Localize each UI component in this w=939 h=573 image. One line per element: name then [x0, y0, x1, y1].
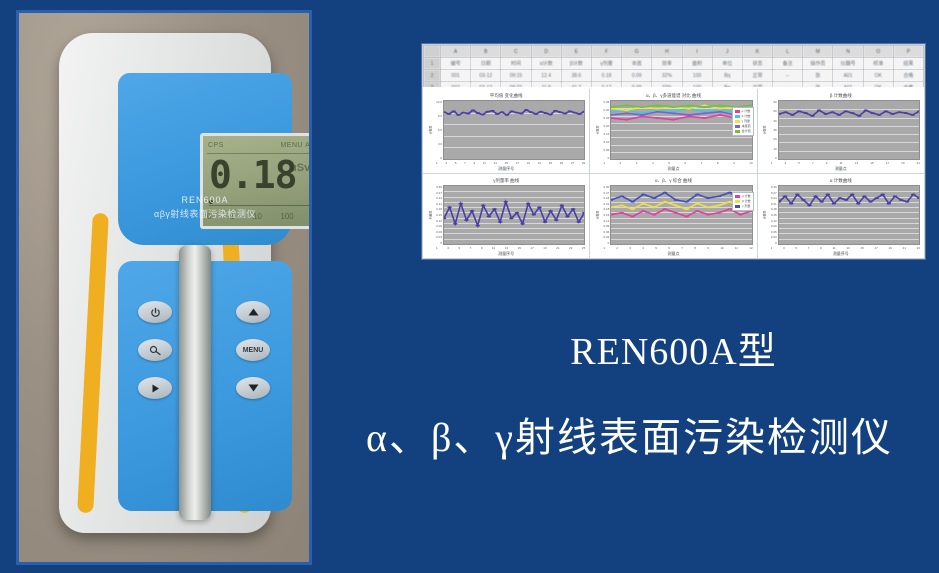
table-cell[interactable]: -- [773, 70, 803, 82]
table-cell[interactable]: 09:22 [501, 82, 531, 88]
table-header-cell[interactable]: G [622, 46, 652, 58]
chart-y-tick: 0 [440, 241, 442, 245]
table-cell[interactable]: 日期 [471, 58, 501, 70]
chart-plot-area: 计数率0.350.300.250.200.150.100.050 [594, 100, 752, 160]
chart-y-tick: 0.18 [436, 207, 442, 211]
chart-legend-swatch [735, 120, 740, 123]
chart-y-tick: 0.18 [771, 207, 777, 211]
chart-y-tick: 0.30 [771, 185, 777, 189]
chart-plot-area: 计数率12.09.06.03.00 [427, 100, 585, 160]
chart-y-tick: 0 [608, 156, 610, 160]
chart-legend: α 计数β 计数γ 剂量本底值合计值 [732, 107, 754, 136]
table-row: 300203-1209:2211.841.20.170.0932%100Bq正常… [424, 82, 924, 88]
chart-title: γ剂量率 曲线 [427, 177, 585, 185]
table-header-cell[interactable]: J [712, 46, 742, 58]
chart-y-tick: 0.24 [603, 196, 609, 200]
chart-x-axis-label: 测量序号 [758, 251, 924, 258]
search-icon [149, 345, 162, 356]
table-cell[interactable]: 0.17 [591, 82, 621, 88]
table-header-cell[interactable]: C [501, 46, 531, 58]
spreadsheet-area: ABCDEFGHIJKLMNOP1编号日期时间α计数β计数γ剂量本底效率面积单位… [423, 45, 924, 87]
chart-cell[interactable]: α、β、γ 综合 曲线计数率0.300.270.240.210.180.150.… [590, 174, 756, 258]
chart-y-ticks: 0.300.270.240.210.180.150.120.090.060.03… [600, 185, 610, 245]
chart-cell[interactable]: α、β、γ多道能谱 对比 曲线计数率0.350.300.250.200.150.… [590, 89, 756, 173]
table-cell[interactable]: 002 [441, 82, 471, 88]
power-button[interactable] [138, 301, 172, 323]
chart-legend-swatch [735, 125, 740, 128]
table-cell[interactable]: 001 [441, 70, 471, 82]
table-cell[interactable]: 0.09 [622, 70, 652, 82]
chart-y-tick: 30 [773, 128, 776, 132]
chart-y-tick: 0.03 [603, 235, 609, 239]
table-cell[interactable]: 12.4 [531, 70, 561, 82]
table-header-cell[interactable]: N [833, 46, 863, 58]
chart-y-tick: 0.35 [603, 100, 609, 104]
table-cell[interactable]: 备注 [773, 58, 803, 70]
device-subtitle-label: αβγ射线表面污染检测仪 [118, 207, 292, 220]
chart-y-tick: 0.03 [436, 235, 442, 239]
chart-y-ticks: 0.300.270.240.210.180.150.120.090.060.03… [768, 185, 778, 245]
chart-y-ticks: 6050403020100 [768, 100, 778, 160]
chart-y-tick: 0.30 [436, 185, 442, 189]
chart-y-tick: 0.21 [771, 202, 777, 206]
chart-legend-swatch [735, 205, 740, 208]
table-cell[interactable]: 合格 [893, 70, 923, 82]
chart-title: α、β、γ多道能谱 对比 曲线 [594, 92, 752, 100]
table-header-cell[interactable]: A [441, 46, 471, 58]
table-header-cell[interactable]: E [561, 46, 591, 58]
chart-y-ticks: 12.09.06.03.00 [433, 100, 443, 160]
chart-y-tick: 0.15 [436, 213, 442, 217]
chart-grid: 平均值 变化曲线计数率12.09.06.03.00135791113151719… [423, 89, 924, 258]
chart-y-tick: 0.21 [603, 202, 609, 206]
chart-legend: α 计数β 计数γ 剂量 [732, 192, 754, 211]
table-cell[interactable]: 校准 [863, 58, 893, 70]
table-cell[interactable]: -- [773, 82, 803, 88]
chart-y-tick: 0.06 [603, 230, 609, 234]
chart-y-tick: 0.09 [436, 224, 442, 228]
menu-button-label: MENU [243, 347, 264, 354]
table-cell[interactable]: 03-12 [471, 70, 501, 82]
chart-y-tick: 0.24 [771, 196, 777, 200]
chart-y-tick: 0 [775, 241, 777, 245]
chart-y-tick: 0.05 [603, 148, 609, 152]
chart-y-tick: 0 [440, 156, 442, 160]
chart-plot-area: 计数率0.300.270.240.210.180.150.120.090.060… [762, 185, 920, 245]
table-cell[interactable]: α计数 [531, 58, 561, 70]
chart-y-tick: 0.10 [603, 140, 609, 144]
arrow-up-icon [247, 307, 260, 317]
table-cell[interactable]: 0.18 [591, 70, 621, 82]
chart-y-tick: 40 [773, 119, 776, 123]
table-cell[interactable]: 11.8 [531, 82, 561, 88]
chart-cell[interactable]: 平均值 变化曲线计数率12.09.06.03.00135791113151719… [423, 89, 589, 173]
table-cell[interactable]: 正常 [742, 82, 772, 88]
table-header-cell[interactable]: M [803, 46, 833, 58]
chart-y-tick: 0.12 [436, 219, 442, 223]
chart-legend-item: 合计值 [735, 129, 751, 134]
chart-y-tick: 10 [773, 147, 776, 151]
table-cell[interactable]: β计数 [561, 58, 591, 70]
table-cell[interactable]: 本底 [622, 58, 652, 70]
chart-y-tick: 0.12 [603, 219, 609, 223]
chart-y-tick: 50 [773, 109, 776, 113]
chart-legend-item: γ 剂量 [735, 204, 751, 209]
chart-y-tick: 9.0 [438, 114, 442, 118]
table-header-cell[interactable]: O [863, 46, 893, 58]
table-cell[interactable]: 38.6 [561, 70, 591, 82]
table-cell[interactable]: Bq [712, 82, 742, 88]
device-upper-face: CPS MENU ALM 0.18 uSv/h 01101001K REN600… [118, 73, 292, 245]
chart-legend-swatch [735, 110, 740, 113]
chart-plot [443, 185, 585, 245]
table-row: 200103-1209:1512.438.60.180.0932%100Bq正常… [424, 70, 924, 82]
table-cell[interactable]: 合格 [893, 82, 923, 88]
table-header-cell[interactable]: B [471, 46, 501, 58]
chart-y-tick: 0.06 [436, 230, 442, 234]
table-cell[interactable]: 结果 [893, 58, 923, 70]
table-cell[interactable]: 41.2 [561, 82, 591, 88]
table-cell[interactable]: 0.09 [622, 82, 652, 88]
chart-x-axis-label: 测量序号 [423, 166, 589, 173]
table-cell[interactable]: 100 [682, 70, 712, 82]
chart-plot [778, 185, 920, 245]
table-row: 1编号日期时间α计数β计数γ剂量本底效率面积单位状态备注操作员仪器号校准结果 [424, 58, 924, 70]
chart-x-axis-label: 测量点 [758, 166, 924, 173]
chart-y-tick: 3.0 [438, 142, 442, 146]
chart-y-tick: 0.03 [771, 235, 777, 239]
chart-y-tick: 0.09 [771, 224, 777, 228]
lcd-unit: uSv/h [290, 162, 312, 174]
table-cell[interactable]: 状态 [742, 58, 772, 70]
table-header-cell[interactable]: F [591, 46, 621, 58]
chart-plot-area: 计数率0.300.270.240.210.180.150.120.090.060… [594, 185, 752, 245]
chart-y-tick: 6.0 [438, 128, 442, 132]
table-header-cell[interactable]: K [742, 46, 772, 58]
chart-title: α、β、γ 综合 曲线 [594, 177, 752, 185]
up-button[interactable] [236, 301, 270, 323]
chart-plot-area: 计数率6050403020100 [762, 100, 920, 160]
table-cell[interactable]: A01 [833, 70, 863, 82]
chart-title: β 计数曲线 [762, 92, 920, 100]
table-cell[interactable]: 09:15 [501, 70, 531, 82]
chart-y-tick: 0.06 [771, 230, 777, 234]
product-photo: CPS MENU ALM 0.18 uSv/h 01101001K REN600… [16, 10, 312, 565]
device-body: CPS MENU ALM 0.18 uSv/h 01101001K REN600… [59, 33, 271, 533]
chart-y-tick: 20 [773, 137, 776, 141]
table-cell[interactable]: 正常 [742, 70, 772, 82]
spreadsheet-table: ABCDEFGHIJKLMNOP1编号日期时间α计数β计数γ剂量本底效率面积单位… [423, 45, 924, 87]
product-title-line2: α、β、γ射线表面污染检测仪 [320, 412, 939, 464]
device-handle [179, 245, 211, 520]
chart-legend-swatch [735, 130, 740, 133]
table-header-cell[interactable]: P [893, 46, 923, 58]
table-cell [424, 46, 441, 58]
chart-y-tick: 0 [775, 156, 777, 160]
chart-y-tick: 0.25 [603, 116, 609, 120]
chart-y-tick: 0.15 [771, 213, 777, 217]
chart-legend-swatch [735, 195, 740, 198]
chart-cell[interactable]: α 计数曲线计数率0.300.270.240.210.180.150.120.0… [758, 174, 924, 258]
software-screenshot-panel: ABCDEFGHIJKLMNOP1编号日期时间α计数β计数γ剂量本底效率面积单位… [422, 44, 925, 259]
table-cell[interactable]: 操作员 [803, 58, 833, 70]
table-cell[interactable]: 时间 [501, 58, 531, 70]
chart-plot [778, 100, 920, 160]
chart-y-tick: 0.30 [603, 108, 609, 112]
lcd-value: 0.18 [209, 156, 297, 194]
play-button[interactable] [138, 377, 172, 399]
table-header-cell[interactable]: I [682, 46, 712, 58]
table-header-cell[interactable]: D [531, 46, 561, 58]
chart-x-axis-label: 测量点 [590, 166, 756, 173]
menu-button[interactable]: MENU [236, 339, 270, 361]
chart-y-tick: 0.30 [603, 185, 609, 189]
table-cell[interactable]: 3 [424, 82, 441, 88]
chart-plot-area: 剂量率0.300.270.240.210.180.150.120.090.060… [427, 185, 585, 245]
table-cell[interactable]: 1 [424, 58, 441, 70]
table-cell[interactable]: 面积 [682, 58, 712, 70]
chart-y-ticks: 0.350.300.250.200.150.100.050 [600, 100, 610, 160]
chart-cell[interactable]: γ剂量率 曲线剂量率0.300.270.240.210.180.150.120.… [423, 174, 589, 258]
chart-title: α 计数曲线 [762, 177, 920, 185]
chart-y-tick: 0.15 [603, 132, 609, 136]
chart-legend-swatch [735, 115, 740, 118]
lcd-status-right: MENU ALM [280, 142, 312, 149]
chart-y-tick: 0.27 [603, 191, 609, 195]
chart-y-tick: 0.20 [603, 124, 609, 128]
device-model-label: REN600A [118, 195, 292, 205]
search-button[interactable] [138, 339, 172, 361]
chart-y-tick: 0 [608, 241, 610, 245]
chart-cell[interactable]: β 计数曲线计数率605040302010013579111315171921测… [758, 89, 924, 173]
table-cell[interactable]: 03-12 [471, 82, 501, 88]
chart-plot [443, 100, 585, 160]
chart-legend-swatch [735, 200, 740, 203]
chart-y-tick: 0.21 [436, 202, 442, 206]
chart-legend-label: 合计值 [742, 129, 751, 134]
table-cell[interactable]: 单位 [712, 58, 742, 70]
table-cell[interactable]: 32% [652, 70, 682, 82]
lcd-status-row: CPS MENU ALM [208, 139, 312, 151]
chart-y-tick: 0.09 [603, 224, 609, 228]
arrow-down-icon [247, 383, 260, 393]
chart-x-axis-label: 测量序号 [423, 251, 589, 258]
chart-y-tick: 0.27 [771, 191, 777, 195]
table-cell[interactable]: OK [863, 70, 893, 82]
table-cell[interactable]: 100 [682, 82, 712, 88]
chart-y-ticks: 0.300.270.240.210.180.150.120.090.060.03… [433, 185, 443, 245]
play-icon [150, 383, 161, 394]
table-cell[interactable]: 张 [803, 82, 833, 88]
table-cell[interactable]: γ剂量 [591, 58, 621, 70]
chart-y-tick: 0.15 [603, 213, 609, 217]
product-title-line1: REN600A型 [422, 330, 925, 374]
slide-canvas: CPS MENU ALM 0.18 uSv/h 01101001K REN600… [0, 0, 939, 573]
table-row: ABCDEFGHIJKLMNOP [424, 46, 924, 58]
table-cell[interactable]: 仪器号 [833, 58, 863, 70]
table-cell[interactable]: 效率 [652, 58, 682, 70]
lcd-status-left: CPS [208, 142, 224, 149]
chart-y-tick: 12.0 [436, 100, 442, 104]
chart-y-tick: 0.12 [771, 219, 777, 223]
chart-y-tick: 0.27 [436, 191, 442, 195]
chart-title: 平均值 变化曲线 [427, 92, 585, 100]
power-icon [150, 307, 161, 318]
table-header-cell[interactable]: L [773, 46, 803, 58]
table-cell[interactable]: 32% [652, 82, 682, 88]
chart-x-axis-label: 测量点 [590, 251, 756, 258]
chart-y-tick: 60 [773, 100, 776, 104]
device-grip-left [77, 213, 109, 513]
table-cell[interactable]: 编号 [441, 58, 471, 70]
table-cell[interactable]: OK [863, 82, 893, 88]
chart-legend-label: γ 剂量 [742, 204, 750, 209]
table-cell[interactable]: 张 [803, 70, 833, 82]
table-cell[interactable]: A01 [833, 82, 863, 88]
down-button[interactable] [236, 377, 270, 399]
chart-y-tick: 0.18 [603, 207, 609, 211]
table-cell[interactable]: Bq [712, 70, 742, 82]
chart-y-tick: 0.24 [436, 196, 442, 200]
table-cell[interactable]: 2 [424, 70, 441, 82]
table-header-cell[interactable]: H [652, 46, 682, 58]
